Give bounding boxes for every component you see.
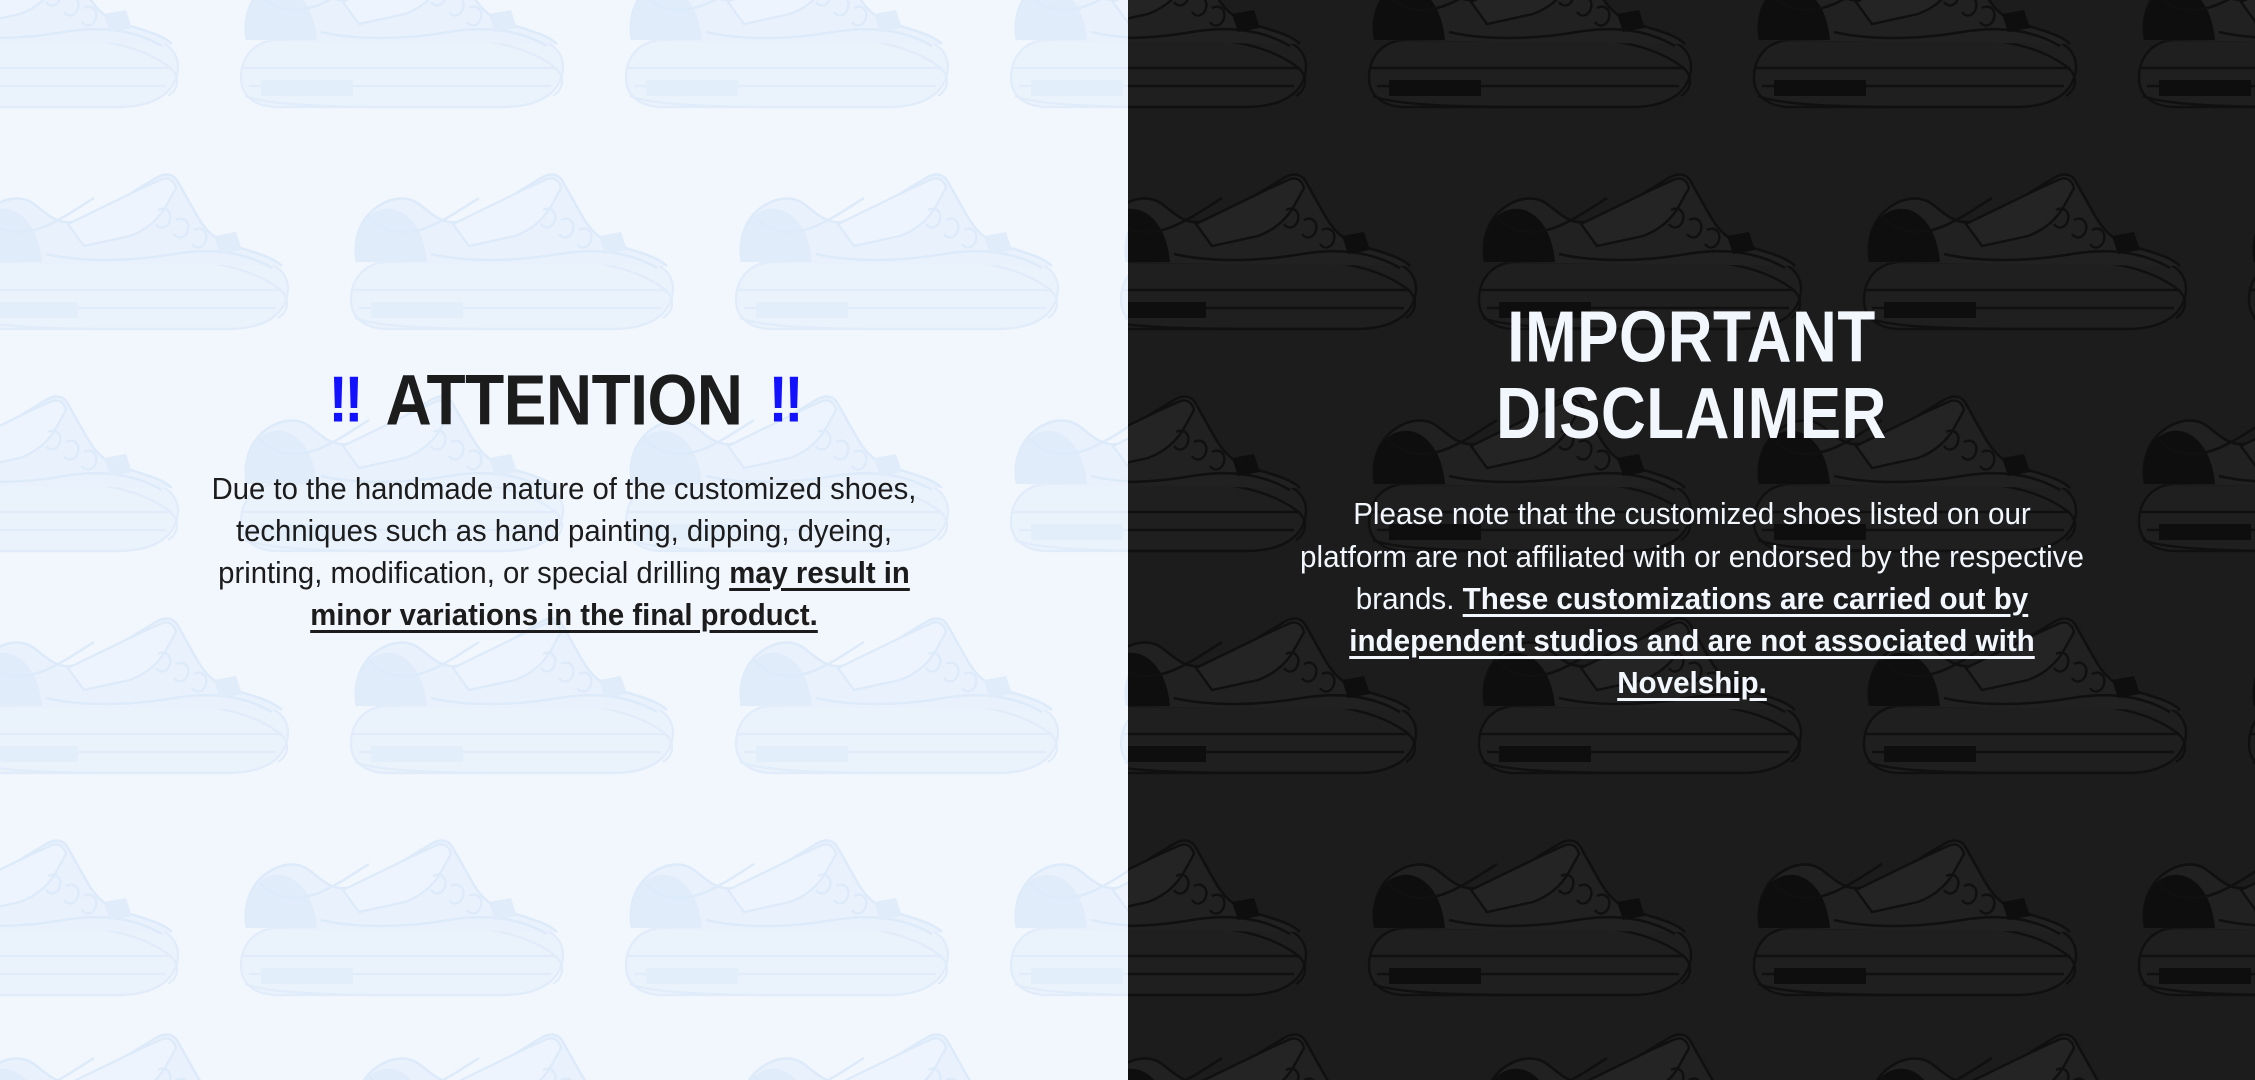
attention-panel: ‼ ATTENTION ‼ Due to the handmade nature… bbox=[0, 0, 1128, 1080]
important-disclaimer-panel: IMPORTANT DISCLAIMER Please note that th… bbox=[1128, 0, 2255, 1080]
disclaimer-heading-line-1: IMPORTANT bbox=[1507, 298, 1875, 378]
disclaimer-heading: IMPORTANT DISCLAIMER bbox=[1312, 300, 2072, 452]
dual-panel-notice: ‼ ATTENTION ‼ Due to the handmade nature… bbox=[0, 0, 2255, 1080]
double-exclamation-left-icon: ‼ bbox=[328, 368, 359, 433]
disclaimer-heading-line-2: DISCLAIMER bbox=[1496, 374, 1887, 454]
double-exclamation-right-icon: ‼ bbox=[768, 368, 799, 433]
disclaimer-body: Please note that the customized shoes li… bbox=[1299, 493, 2085, 703]
attention-heading: ‼ ATTENTION ‼ bbox=[328, 364, 799, 436]
attention-body: Due to the handmade nature of the custom… bbox=[180, 468, 948, 636]
attention-heading-text: ATTENTION bbox=[386, 364, 743, 436]
